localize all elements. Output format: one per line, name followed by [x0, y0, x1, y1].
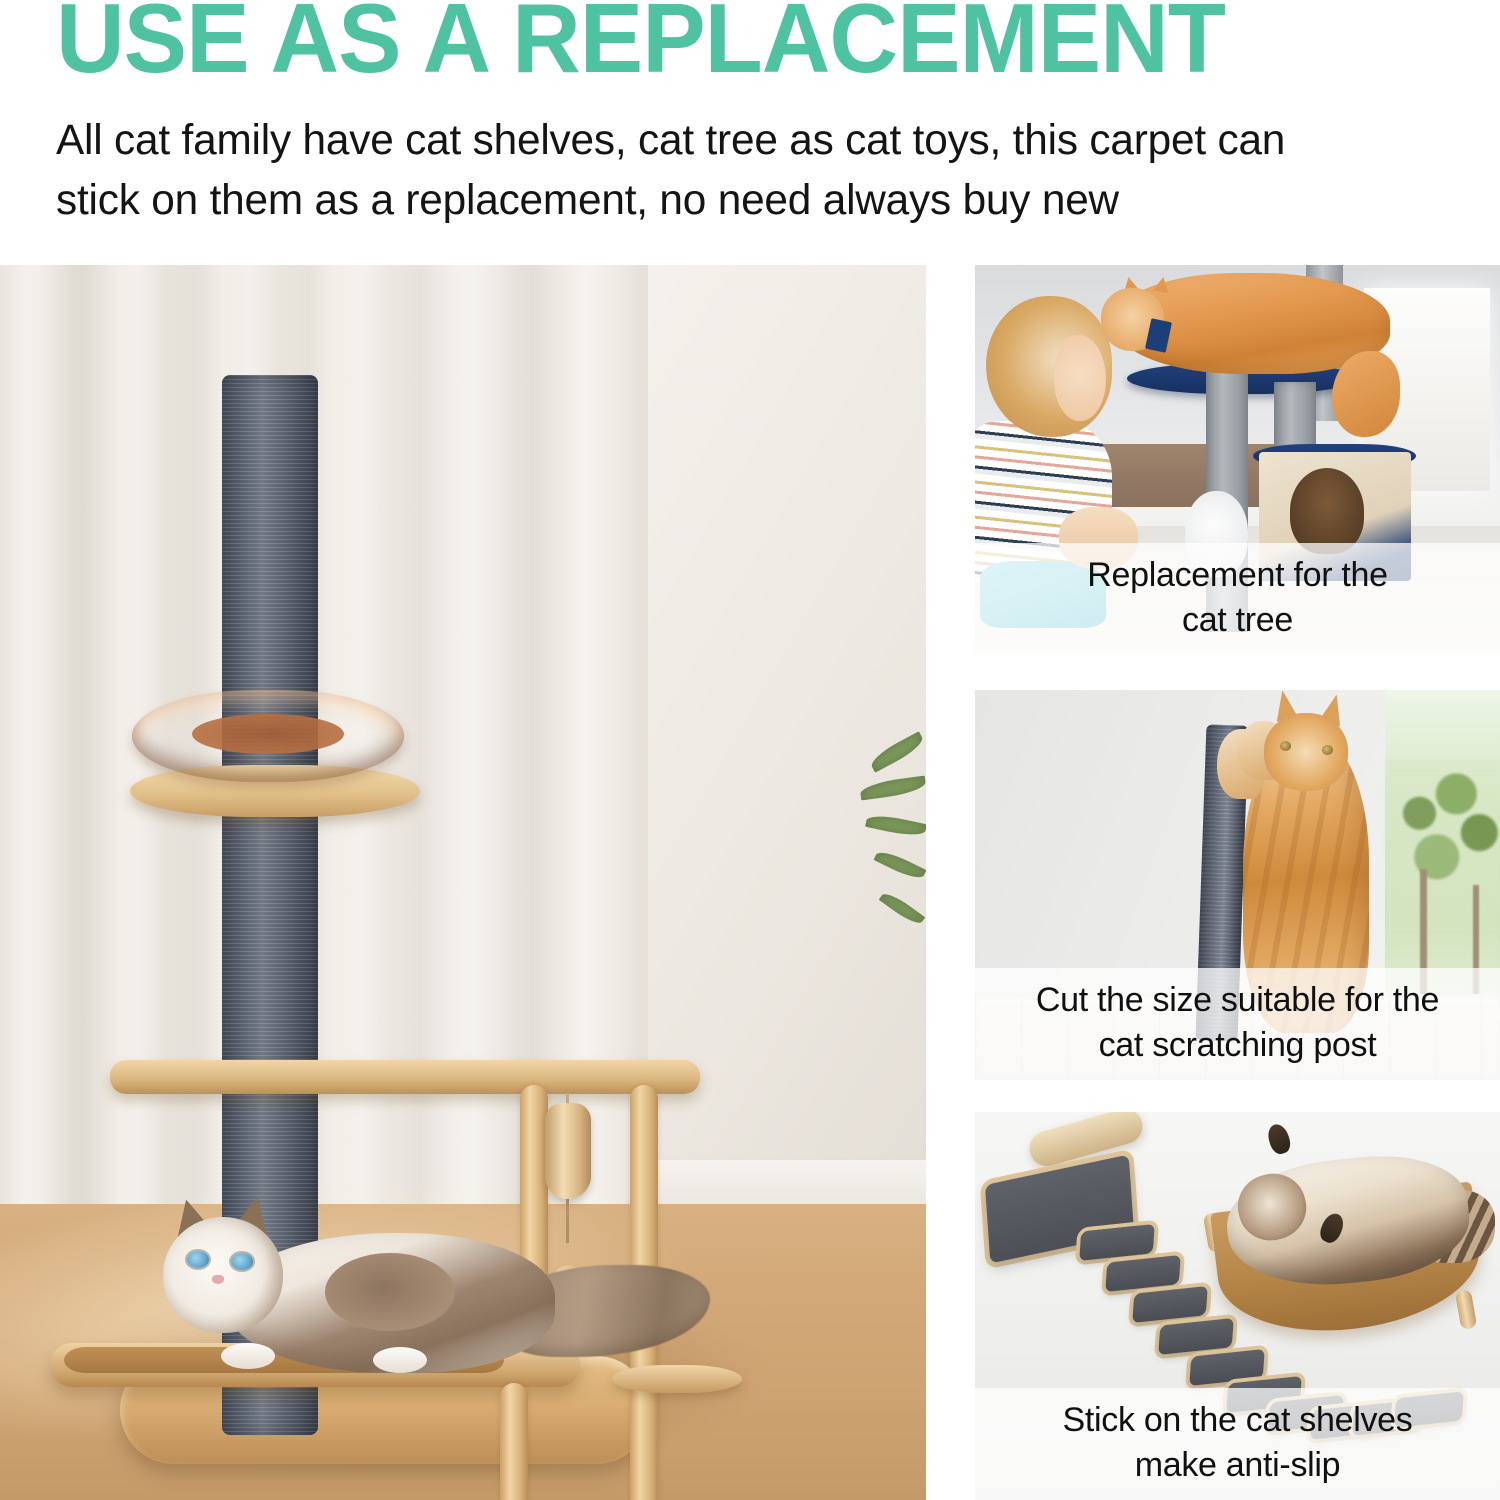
- support-leg-lower: [500, 1383, 528, 1500]
- panel-caption-anti-slip: Stick on the cat shelves make anti-slip: [975, 1388, 1500, 1500]
- child-face: [1054, 335, 1107, 421]
- page-title: USE AS A REPLACEMENT: [56, 0, 1225, 90]
- photo-replacement-for-cat-tree: Replacement for the cat tree: [975, 265, 1500, 655]
- ragdoll-cat: [155, 1195, 715, 1380]
- outdoor-trees: [1385, 760, 1500, 1002]
- photo-anti-slip-shelves: Stick on the cat shelves make anti-slip: [975, 1112, 1500, 1500]
- panel-caption-cut-size: Cut the size suitable for the cat scratc…: [975, 968, 1500, 1080]
- caption-line-1: Replacement for the: [981, 553, 1494, 598]
- ginger-cat-eye-right: [1322, 745, 1333, 755]
- subtitle-line-2: stick on them as a replacement, no need …: [56, 170, 1435, 230]
- upper-wooden-shelf: [110, 1060, 700, 1094]
- photo-cut-the-size: Cut the size suitable for the cat scratc…: [975, 690, 1500, 1080]
- cat-head: [163, 1217, 283, 1333]
- cat-nose: [212, 1275, 224, 1284]
- panel-caption-replacement: Replacement for the cat tree: [975, 543, 1500, 655]
- caption-line-1: Cut the size suitable for the: [981, 978, 1494, 1023]
- cat-back-paw: [373, 1347, 427, 1373]
- subtitle-line-1: All cat family have cat shelves, cat tre…: [56, 110, 1435, 170]
- caption-line-1: Stick on the cat shelves: [981, 1398, 1494, 1443]
- header-banner: USE AS A REPLACEMENT All cat family have…: [0, 0, 1500, 265]
- cat-eye-right: [231, 1253, 253, 1270]
- orange-cat-ear-right: [1152, 275, 1170, 293]
- caption-line-2: cat tree: [981, 598, 1494, 643]
- cat-condo-entrance: [1290, 468, 1364, 554]
- houseplant: [808, 734, 926, 1014]
- ginger-cat-eye-left: [1280, 741, 1291, 751]
- hanging-wood-toy: [545, 1103, 591, 1199]
- cat-eye-left: [187, 1251, 209, 1268]
- main-product-photo: [0, 265, 926, 1500]
- ginger-cat-head: [1264, 713, 1348, 791]
- orange-cat-tail: [1332, 351, 1400, 437]
- page-subtitle: All cat family have cat shelves, cat tre…: [56, 110, 1456, 230]
- cat-front-paw: [221, 1343, 275, 1369]
- caption-line-2: make anti-slip: [981, 1443, 1494, 1488]
- caption-line-2: cat scratching post: [981, 1023, 1494, 1068]
- plush-donut-bed: [132, 690, 404, 782]
- cat-fur-patch: [325, 1253, 455, 1331]
